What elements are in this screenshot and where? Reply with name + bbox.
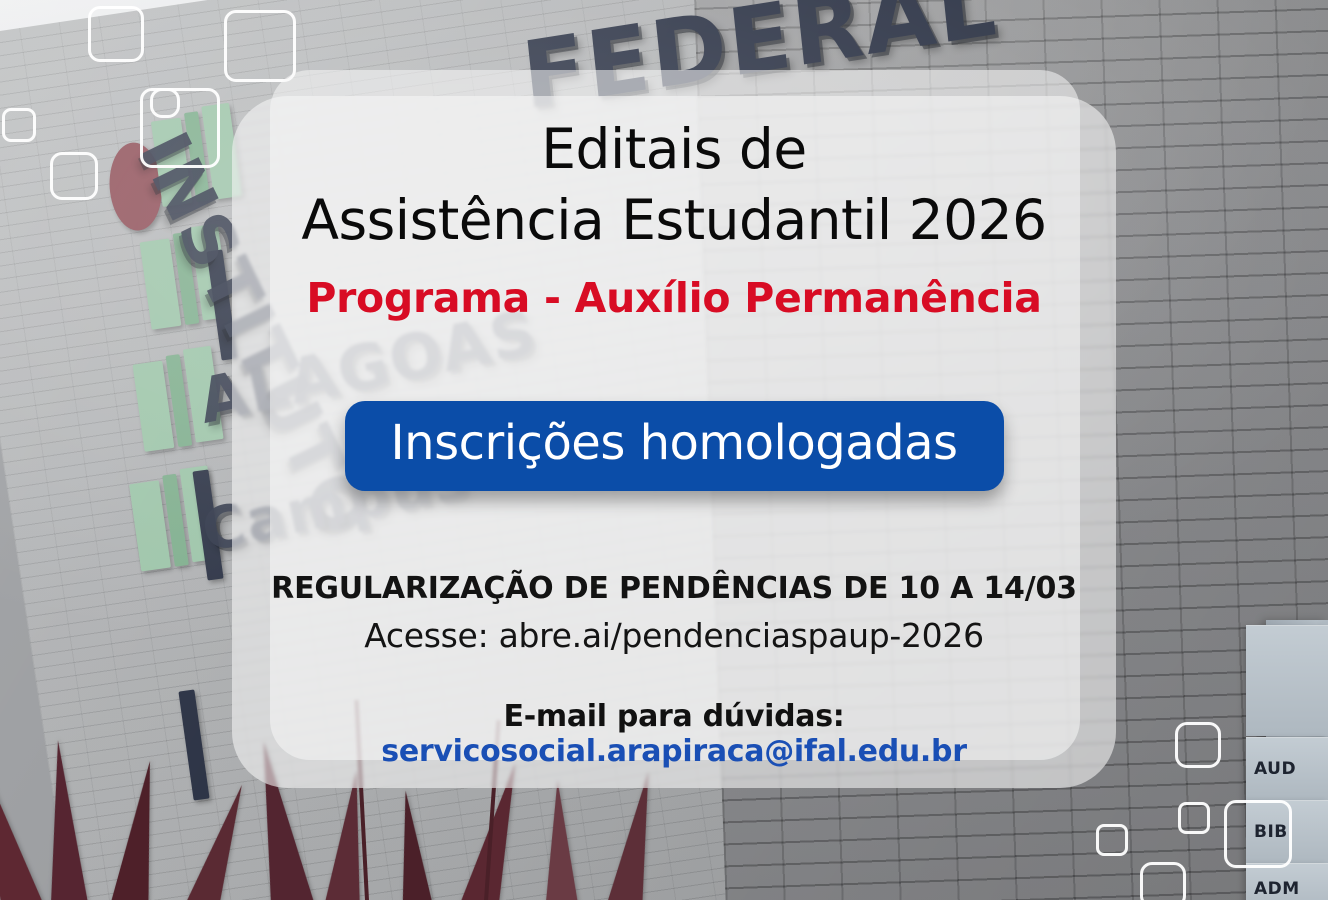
decor-square [1096, 824, 1128, 856]
decor-square [2, 108, 36, 142]
inscricoes-homologadas-button[interactable]: Inscrições homologadas [345, 401, 1004, 491]
headline-line-1: Editais de [232, 118, 1116, 180]
email-label: E-mail para dúvidas: [504, 699, 845, 734]
decor-square [1178, 802, 1210, 834]
decor-square [224, 10, 296, 82]
sign-panel-auditorio: AUD [1246, 737, 1328, 800]
email-address-link[interactable]: servicosocial.arapiraca@ifal.edu.br [381, 734, 966, 769]
decor-square [50, 152, 98, 200]
deadline-notice: REGULARIZAÇÃO DE PENDÊNCIAS DE 10 A 14/0… [232, 571, 1116, 606]
sign-panel-administracao: ADM [1246, 863, 1328, 900]
poster-content: Editais de Assistência Estudantil 2026 P… [232, 96, 1116, 788]
poster-canvas: FEDERAL INSTITUTO ALAGOAS Campus AUD BIB… [0, 0, 1328, 900]
headline-line-2: Assistência Estudantil 2026 [232, 189, 1116, 251]
decor-square [140, 88, 220, 168]
plant-leaf [532, 779, 591, 900]
access-url-line[interactable]: Acesse: abre.ai/pendenciaspaup-2026 [232, 616, 1116, 655]
decor-square [1140, 862, 1186, 900]
plant-leaf [32, 738, 100, 900]
program-subtitle: Programa - Auxílio Permanência [232, 274, 1116, 322]
decor-square [1224, 800, 1292, 868]
cta-button-wrapper: Inscrições homologadas [232, 401, 1116, 491]
decor-square [88, 6, 144, 62]
email-contact-line: E-mail para dúvidas: servicosocial.arapi… [232, 699, 1116, 769]
plant-leaf [96, 757, 175, 900]
decor-square [1175, 722, 1221, 768]
sign-panel-blank [1246, 625, 1328, 736]
plant-leaf [380, 788, 453, 900]
